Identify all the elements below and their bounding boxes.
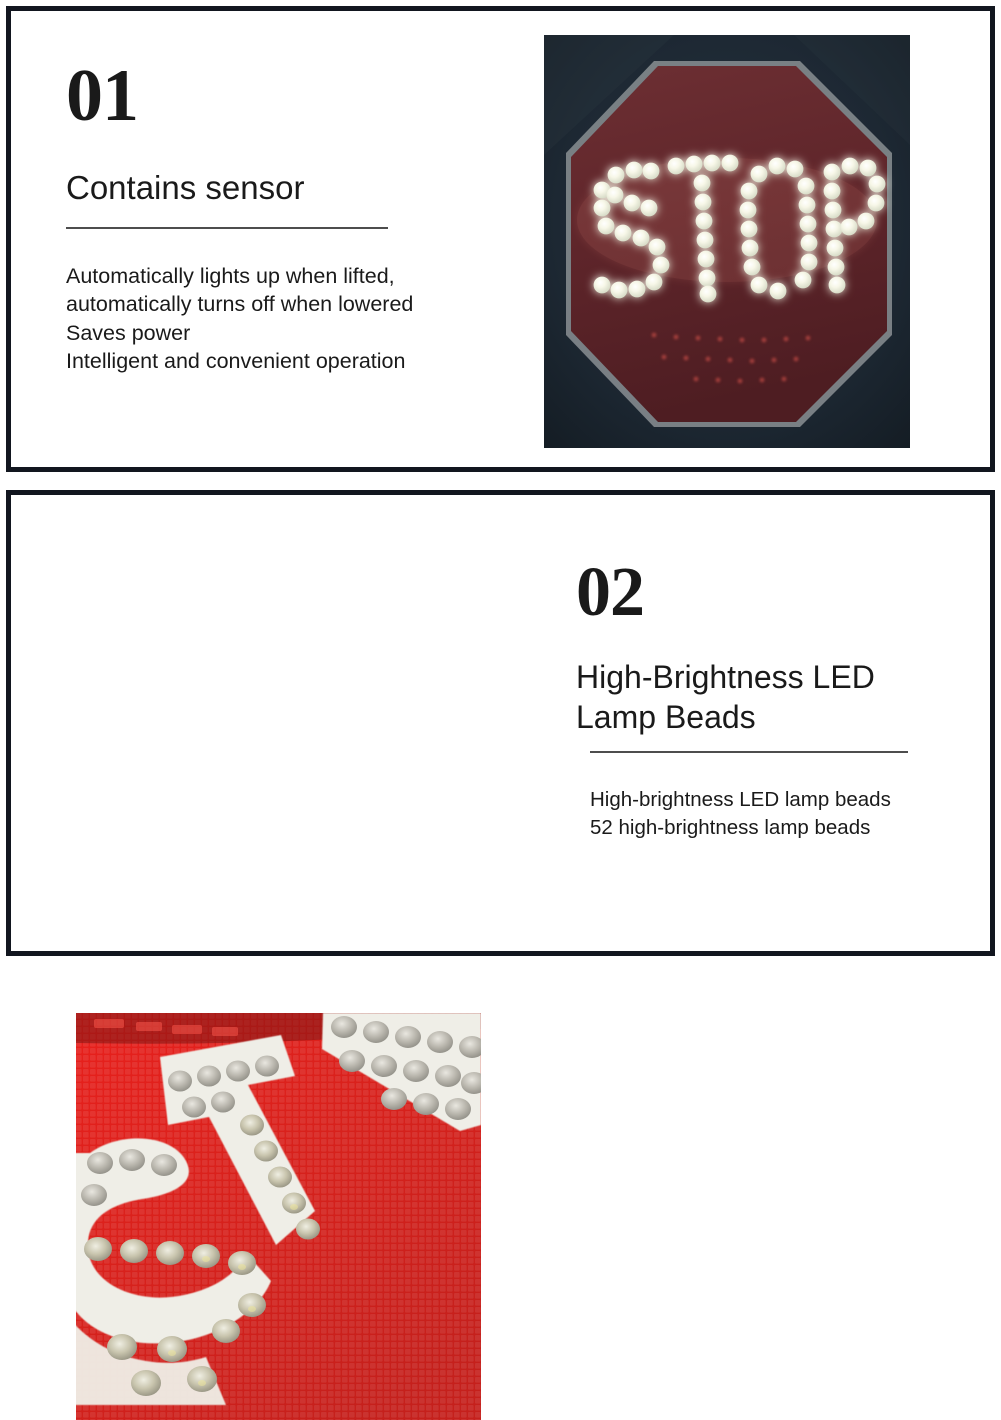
heading-divider-02 <box>590 751 908 753</box>
feature-text-block-02: 02 High-Brightness LED Lamp Beads High-b… <box>576 560 976 841</box>
feature-heading-01: Contains sensor <box>66 167 486 209</box>
feature-text-block-01: 01 Contains sensor Automatically lights … <box>66 61 486 376</box>
feature-body-02: High-brightness LED lamp beads 52 high-b… <box>590 786 976 841</box>
heading-divider-01 <box>66 227 388 229</box>
feature-heading-02: High-Brightness LED Lamp Beads <box>576 657 976 739</box>
illuminated-stop-sign-photo <box>544 35 910 448</box>
lamp-bead-closeup-graphic <box>76 1013 481 1420</box>
feature-number-01: 01 <box>66 61 486 131</box>
lamp-bead-closeup-photo <box>76 1013 481 1420</box>
feature-panel-01: 01 Contains sensor Automatically lights … <box>6 6 995 472</box>
feature-body-01: Automatically lights up when lifted, aut… <box>66 262 486 376</box>
feature-panel-02: 02 High-Brightness LED Lamp Beads High-b… <box>6 490 995 956</box>
illuminated-stop-sign-graphic <box>544 35 910 448</box>
infographic-page: 01 Contains sensor Automatically lights … <box>0 0 1001 962</box>
feature-number-02: 02 <box>576 560 976 627</box>
